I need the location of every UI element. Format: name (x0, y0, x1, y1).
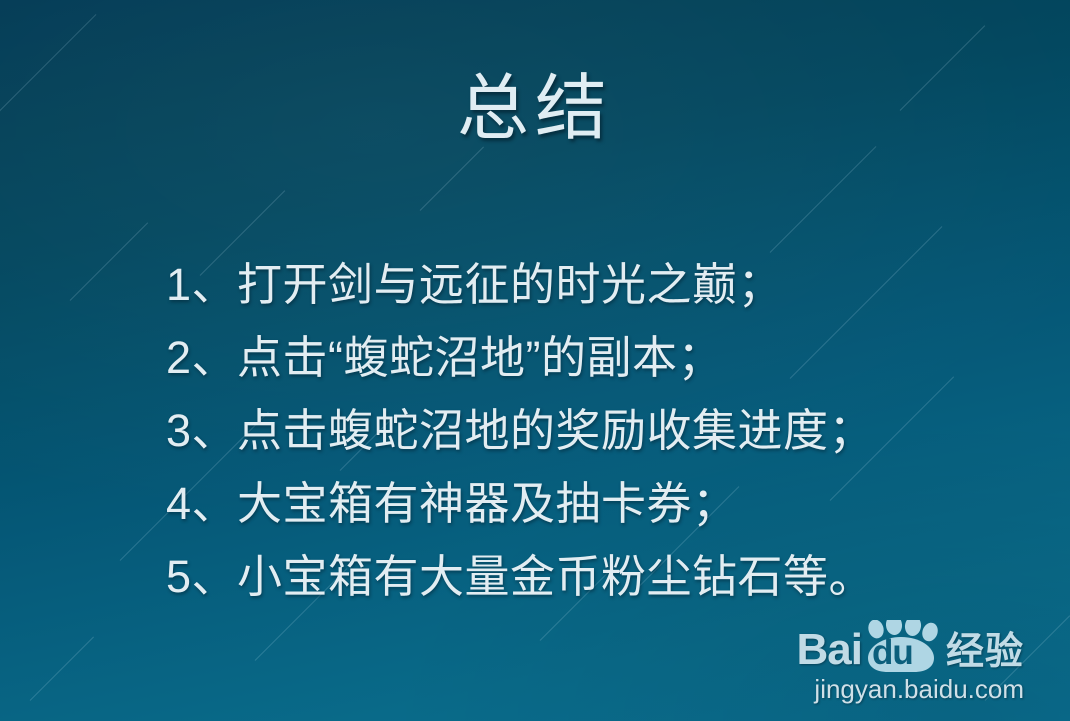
list-item: 3、点击蝮蛇沼地的奖励收集进度； (166, 394, 1026, 467)
list-item: 5、小宝箱有大量金币粉尘钻石等。 (166, 540, 1026, 613)
diagonal-streak (770, 146, 877, 253)
diagonal-streak (420, 147, 484, 211)
presentation-slide: 总结 1、打开剑与远征的时光之巅； 2、点击“蝮蛇沼地”的副本； 3、点击蝮蛇沼… (0, 0, 1070, 721)
watermark-bai-text: Bai (797, 628, 862, 672)
summary-list: 1、打开剑与远征的时光之巅； 2、点击“蝮蛇沼地”的副本； 3、点击蝮蛇沼地的奖… (166, 248, 1026, 613)
list-item: 4、大宝箱有神器及抽卡券； (166, 467, 1026, 540)
baidu-jingyan-watermark: Bai du 经验 jingyan.baidu.com (797, 622, 1025, 705)
watermark-jingyan-text: 经验 (946, 632, 1024, 672)
watermark-url: jingyan.baidu.com (797, 674, 1025, 705)
slide-title: 总结 (0, 72, 1070, 148)
list-item: 1、打开剑与远征的时光之巅； (166, 248, 1026, 321)
diagonal-streak (30, 637, 94, 701)
diagonal-streak (70, 222, 148, 300)
watermark-du-text: du (872, 635, 913, 670)
watermark-logo-row: Bai du 经验 (797, 622, 1025, 672)
baidu-paw-icon: du (862, 620, 940, 672)
list-item: 2、点击“蝮蛇沼地”的副本； (166, 321, 1026, 394)
